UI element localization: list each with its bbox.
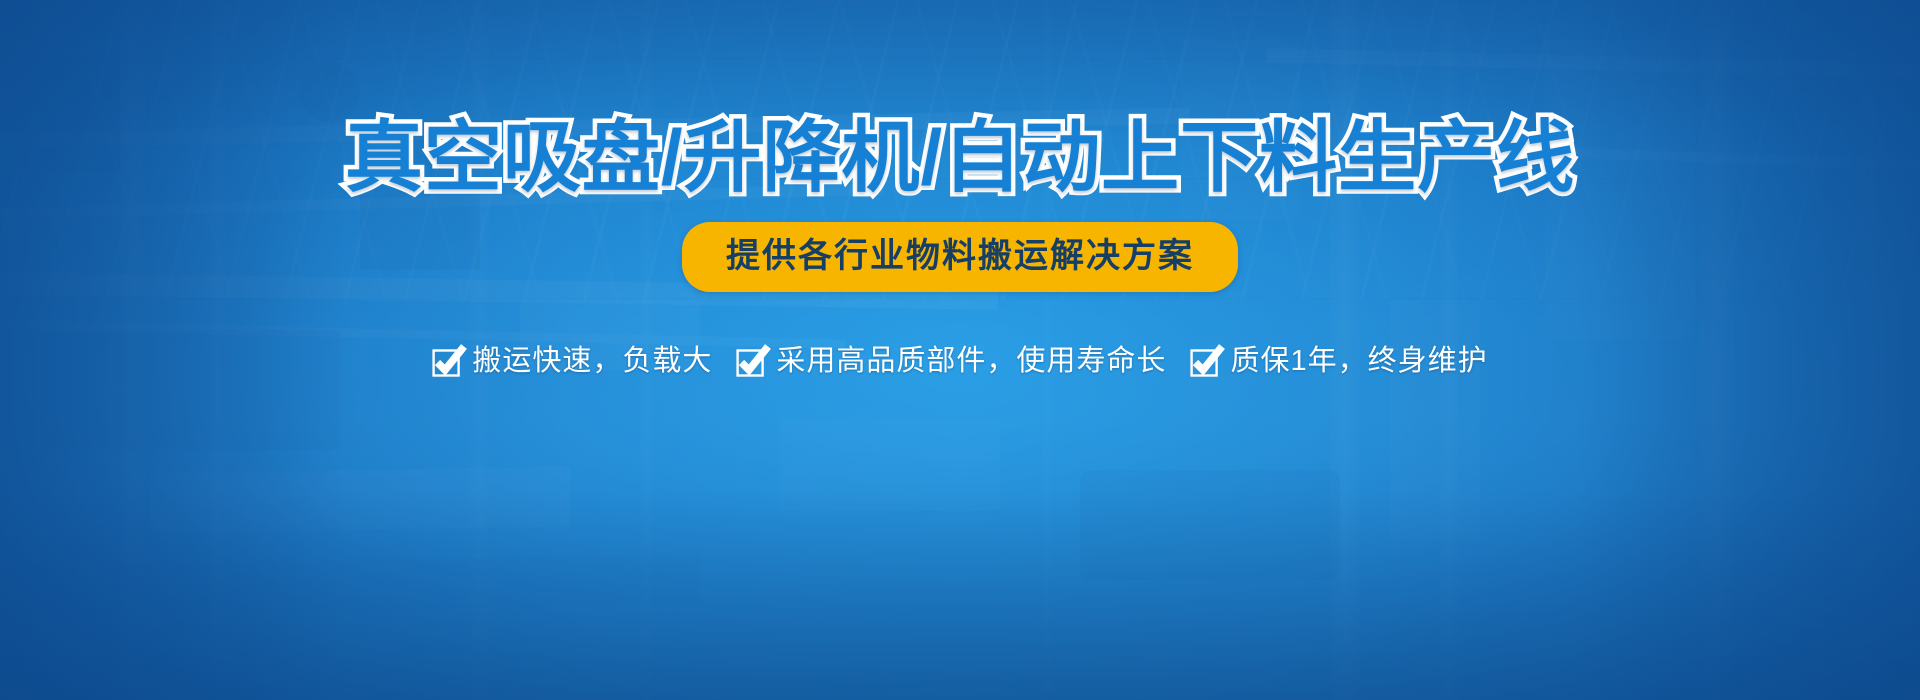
- feature-label: 采用高品质部件，使用寿命长: [776, 347, 1166, 376]
- feature-item: 搬运快速，负载大: [432, 345, 712, 378]
- feature-item: 采用高品质部件，使用寿命长: [736, 345, 1166, 378]
- checkbox-check-icon: [432, 345, 465, 378]
- feature-label: 质保1年，终身维护: [1230, 347, 1487, 376]
- banner-subtitle-badge: 提供各行业物料搬运解决方案: [682, 222, 1238, 292]
- checkbox-check-icon: [1190, 345, 1223, 378]
- banner-content: 真空吸盘/升降机/自动上下料生产线 提供各行业物料搬运解决方案 搬运快速，负载大: [0, 0, 1920, 700]
- feature-list: 搬运快速，负载大 采用高品质部件，使用寿命长: [432, 345, 1487, 378]
- promo-banner: 真空吸盘/升降机/自动上下料生产线 提供各行业物料搬运解决方案 搬运快速，负载大: [0, 0, 1920, 700]
- feature-item: 质保1年，终身维护: [1190, 345, 1487, 378]
- feature-label: 搬运快速，负载大: [472, 347, 712, 376]
- checkbox-check-icon: [736, 345, 769, 378]
- banner-headline: 真空吸盘/升降机/自动上下料生产线: [345, 118, 1575, 196]
